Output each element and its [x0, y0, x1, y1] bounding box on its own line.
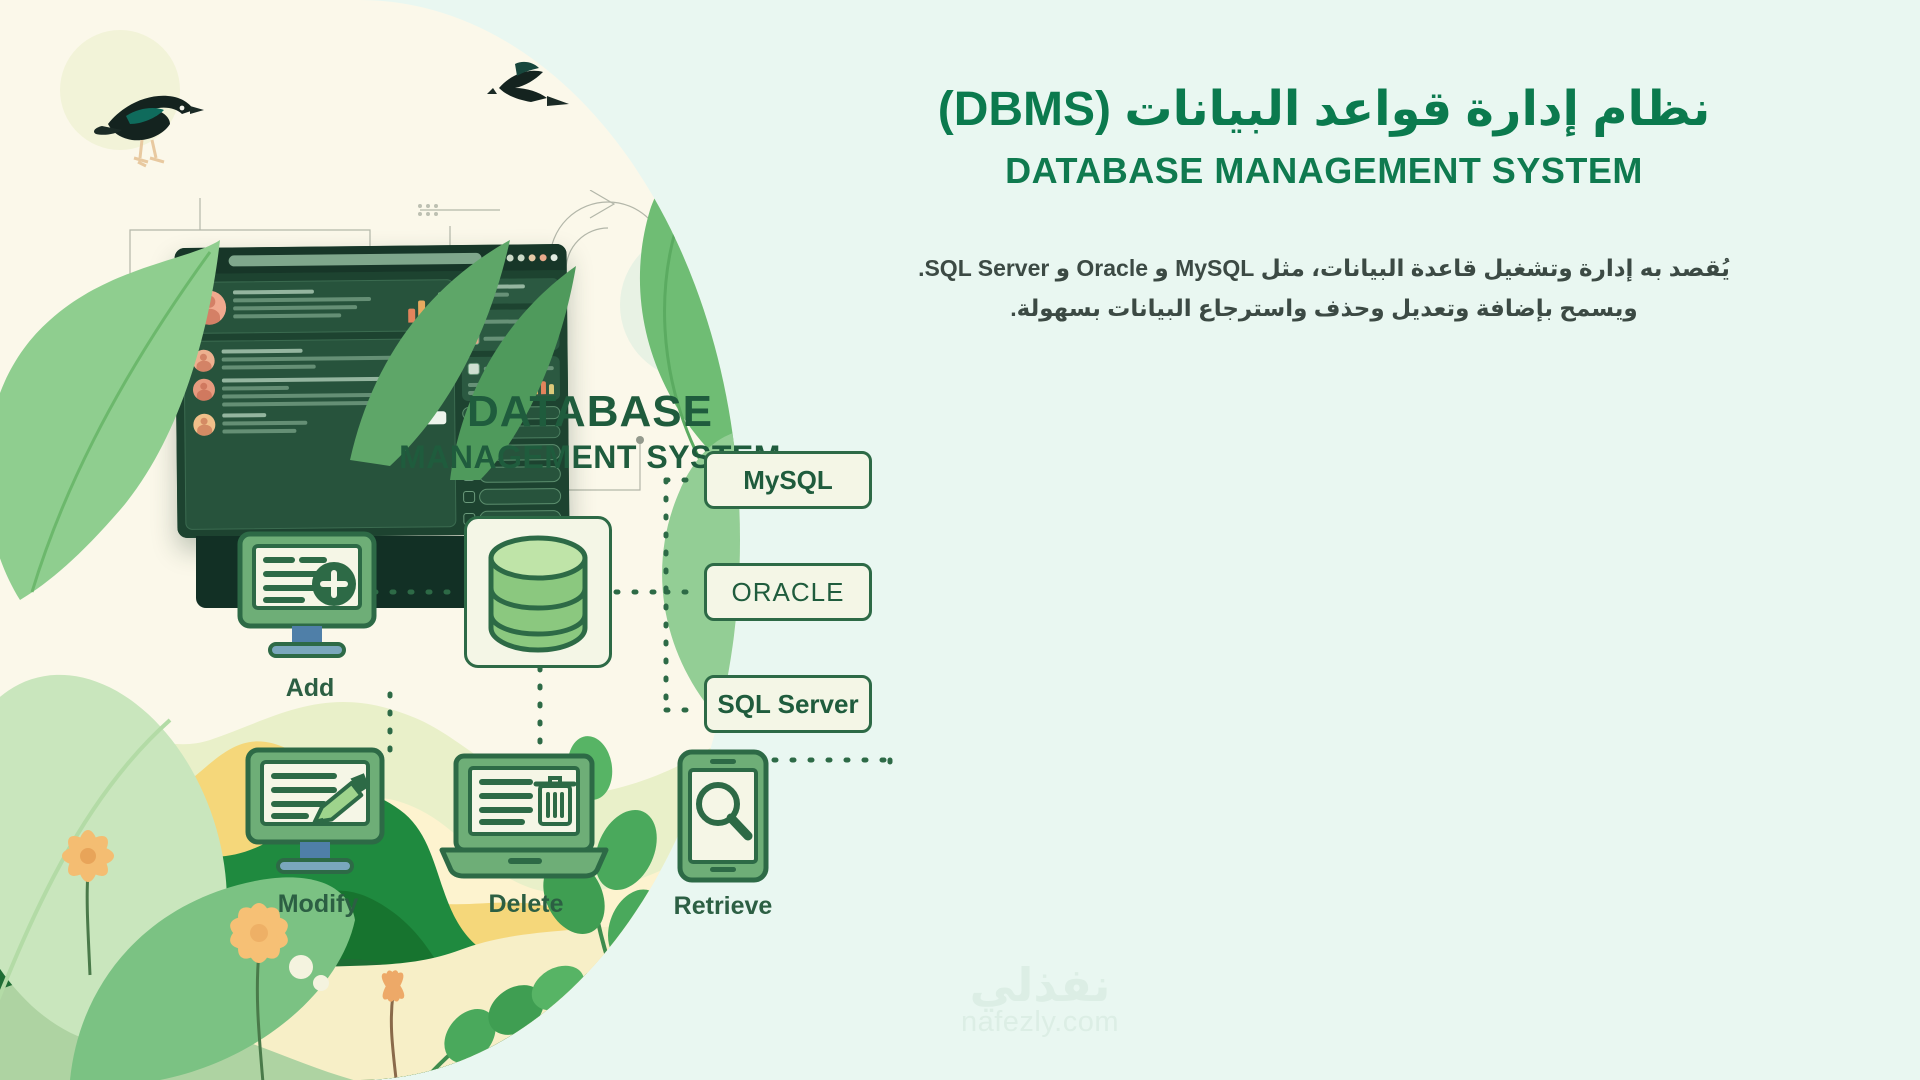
operation-delete[interactable]: Delete	[436, 750, 616, 882]
page-title-english: DATABASE MANAGEMENT SYSTEM	[800, 150, 1848, 192]
vendor-label: ORACLE	[732, 577, 845, 608]
vendor-box-mysql[interactable]: MySQL	[704, 451, 872, 509]
vendor-label: MySQL	[743, 465, 833, 496]
description-line-1: يُقصد به إدارة وتشغيل قاعدة البيانات، مث…	[874, 248, 1774, 288]
operation-modify[interactable]: Modify	[238, 742, 398, 882]
operation-label-delete: Delete	[436, 890, 616, 919]
database-icon	[467, 520, 609, 666]
vendor-box-sqlserver[interactable]: SQL Server	[704, 675, 872, 733]
page-title-arabic: نظام إدارة قواعد البيانات (DBMS)	[800, 80, 1848, 140]
dbms-diagram: DATABASE MANAGEMENT SYSTEM	[60, 330, 1120, 950]
operation-label-retrieve: Retrieve	[658, 892, 788, 921]
flower-icon	[345, 930, 465, 1080]
operation-label-add: Add	[230, 674, 390, 703]
trash-bin-icon	[436, 750, 616, 882]
database-node	[464, 516, 612, 668]
operation-retrieve[interactable]: Retrieve	[658, 748, 788, 884]
operation-add[interactable]: Add	[230, 526, 390, 666]
monitor-plus-icon	[230, 526, 390, 666]
operation-label-modify: Modify	[238, 890, 398, 919]
description-line-2: ويسمح بإضافة وتعديل وحذف واسترجاع البيان…	[874, 288, 1774, 328]
poster-canvas: نظام إدارة قواعد البيانات (DBMS) DATABAS…	[0, 0, 1920, 1080]
pencil-edit-icon	[238, 742, 398, 882]
vendor-box-oracle[interactable]: ORACLE	[704, 563, 872, 621]
vendor-label: SQL Server	[717, 689, 858, 720]
bird-icon	[90, 62, 210, 172]
magnifier-search-icon	[658, 748, 788, 884]
bird-icon	[485, 58, 575, 120]
